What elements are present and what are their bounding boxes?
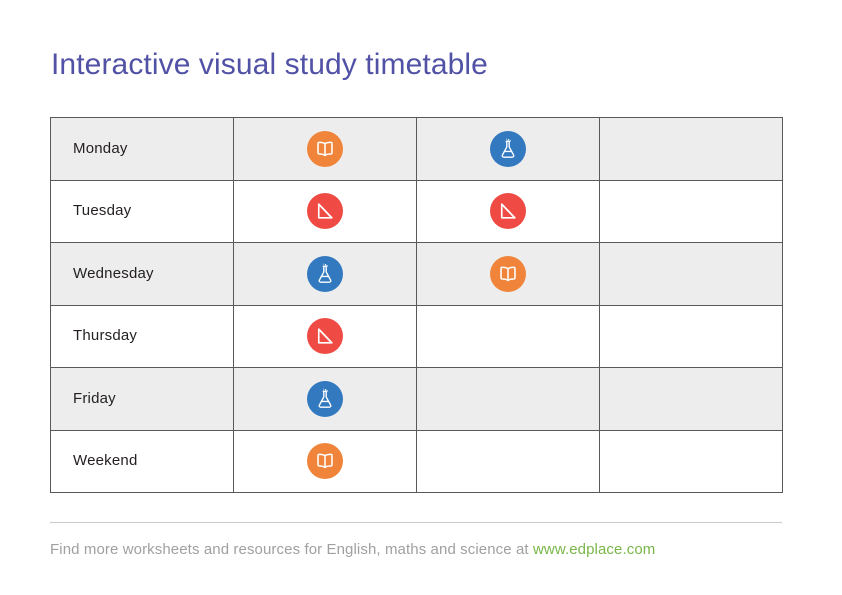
slot-cell[interactable]	[600, 243, 783, 306]
set-square-icon[interactable]	[307, 318, 343, 354]
timetable-body: MondayTuesdayWednesdayThursdayFridayWeek…	[51, 118, 783, 493]
page-title: Interactive visual study timetable	[51, 48, 488, 82]
slot-cell[interactable]	[234, 430, 417, 493]
set-square-icon[interactable]	[490, 193, 526, 229]
slot-cell[interactable]	[600, 430, 783, 493]
slot-cell[interactable]	[600, 180, 783, 243]
study-timetable: MondayTuesdayWednesdayThursdayFridayWeek…	[50, 117, 783, 493]
day-cell: Weekend	[51, 430, 234, 493]
table-row: Wednesday	[51, 243, 783, 306]
slot-cell[interactable]	[600, 118, 783, 181]
flask-icon[interactable]	[307, 381, 343, 417]
day-cell: Wednesday	[51, 243, 234, 306]
day-cell: Monday	[51, 118, 234, 181]
flask-icon[interactable]	[490, 131, 526, 167]
open-book-icon[interactable]	[490, 256, 526, 292]
day-label: Weekend	[51, 452, 138, 469]
day-cell: Tuesday	[51, 180, 234, 243]
set-square-icon[interactable]	[307, 193, 343, 229]
table-row: Monday	[51, 118, 783, 181]
edplace-link[interactable]: www.edplace.com	[533, 541, 655, 558]
day-label: Wednesday	[51, 265, 154, 282]
slot-cell[interactable]	[234, 368, 417, 431]
footer: Find more worksheets and resources for E…	[50, 541, 782, 558]
slot-cell[interactable]	[417, 243, 600, 306]
flask-icon[interactable]	[307, 256, 343, 292]
slot-cell[interactable]	[600, 368, 783, 431]
open-book-icon[interactable]	[307, 443, 343, 479]
open-book-icon[interactable]	[307, 131, 343, 167]
worksheet-page: Interactive visual study timetable Monda…	[0, 0, 842, 595]
table-row: Thursday	[51, 305, 783, 368]
day-label: Friday	[51, 390, 116, 407]
day-cell: Friday	[51, 368, 234, 431]
slot-cell[interactable]	[234, 305, 417, 368]
table-row: Friday	[51, 368, 783, 431]
slot-cell[interactable]	[417, 430, 600, 493]
slot-cell[interactable]	[234, 180, 417, 243]
day-label: Thursday	[51, 327, 137, 344]
slot-cell[interactable]	[234, 118, 417, 181]
footer-text: Find more worksheets and resources for E…	[50, 541, 533, 558]
slot-cell[interactable]	[417, 180, 600, 243]
slot-cell[interactable]	[234, 243, 417, 306]
table-row: Tuesday	[51, 180, 783, 243]
footer-divider	[50, 522, 782, 523]
slot-cell[interactable]	[600, 305, 783, 368]
day-label: Tuesday	[51, 202, 131, 219]
day-cell: Thursday	[51, 305, 234, 368]
slot-cell[interactable]	[417, 305, 600, 368]
slot-cell[interactable]	[417, 118, 600, 181]
table-row: Weekend	[51, 430, 783, 493]
day-label: Monday	[51, 140, 128, 157]
slot-cell[interactable]	[417, 368, 600, 431]
